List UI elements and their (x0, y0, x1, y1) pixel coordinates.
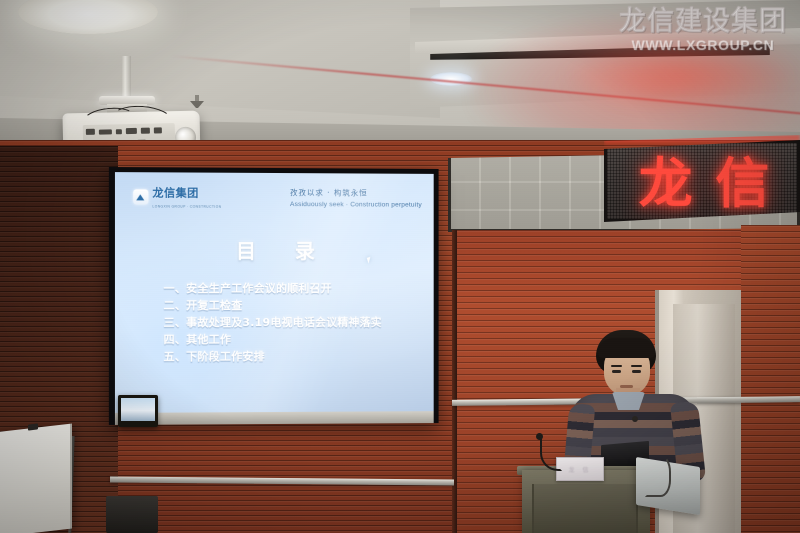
speaker-eye-right (632, 370, 641, 373)
floor-equipment-box (106, 496, 158, 533)
slide-tagline-en: Assiduously seek · Construction perpetui… (290, 201, 422, 209)
projection-screen-frame: 龙信集团 LONGXIN GROUP · CONSTRUCTION 孜孜以求 ·… (109, 167, 439, 425)
laptop-power-cord (645, 455, 671, 497)
podium-name-card-text: 龙 信 (569, 465, 592, 474)
wall-monitor-screen (121, 398, 155, 421)
slide-agenda-item: 二、开复工检查 (164, 298, 424, 314)
projection-screen: 龙信集团 LONGXIN GROUP · CONSTRUCTION 孜孜以求 ·… (115, 172, 434, 413)
microphone-head-icon (536, 433, 543, 440)
slide-agenda-item: 五、下阶段工作安排 (164, 348, 424, 365)
podium-front-panel (532, 484, 638, 533)
slide-tagline: 孜孜以求 · 构筑永恒 Assiduously seek · Construct… (290, 187, 422, 209)
speaker-hair-front (598, 338, 655, 358)
podium-name-card: 龙 信 (556, 457, 604, 481)
wall-right-edge (741, 225, 800, 533)
whiteboard-clip-icon (28, 423, 38, 430)
projector-port-hdmi (86, 129, 95, 135)
conference-room-photo: 龙 信 龙信集团 LONGXIN GROUP · CONSTRUCTION 孜孜… (0, 0, 800, 533)
triangle-mountain-icon (133, 189, 148, 204)
slide-logo: 龙信集团 LONGXIN GROUP · CONSTRUCTION (133, 184, 221, 209)
whiteboard[interactable] (0, 424, 72, 533)
speaker-eye-left (612, 370, 621, 373)
projector-port-usb (116, 129, 122, 134)
speaker-brow-left (611, 365, 622, 367)
slide-title: 目 录 (115, 235, 434, 265)
slide-agenda-list: 一、安全生产工作会议的顺利召开 二、开复工检查 三、事故处理及3.19电视电话会… (164, 281, 424, 365)
led-sign-text: 龙 信 (607, 147, 800, 221)
wall-column-divider (452, 230, 457, 533)
wall-monitor (118, 395, 158, 427)
slide-agenda-item: 四、其他工作 (164, 332, 424, 348)
speaker-brow-right (631, 365, 642, 367)
slide-logo-company-en: LONGXIN GROUP · CONSTRUCTION (152, 204, 221, 208)
sprinkler-head-icon (190, 95, 204, 109)
slide-agenda-item: 三、事故处理及3.19电视电话会议精神落实 (164, 315, 424, 331)
lapel-mic-icon (632, 416, 638, 422)
led-marquee-sign: 龙 信 (604, 140, 800, 222)
slide-agenda-item: 一、安全生产工作会议的顺利召开 (164, 281, 424, 297)
slide-logo-company-cn: 龙信集团 (152, 184, 221, 200)
slide-tagline-cn: 孜孜以求 · 构筑永恒 (290, 187, 422, 199)
red-ceiling-glow-core (560, 40, 800, 110)
screen-bottom-bar (115, 411, 434, 425)
